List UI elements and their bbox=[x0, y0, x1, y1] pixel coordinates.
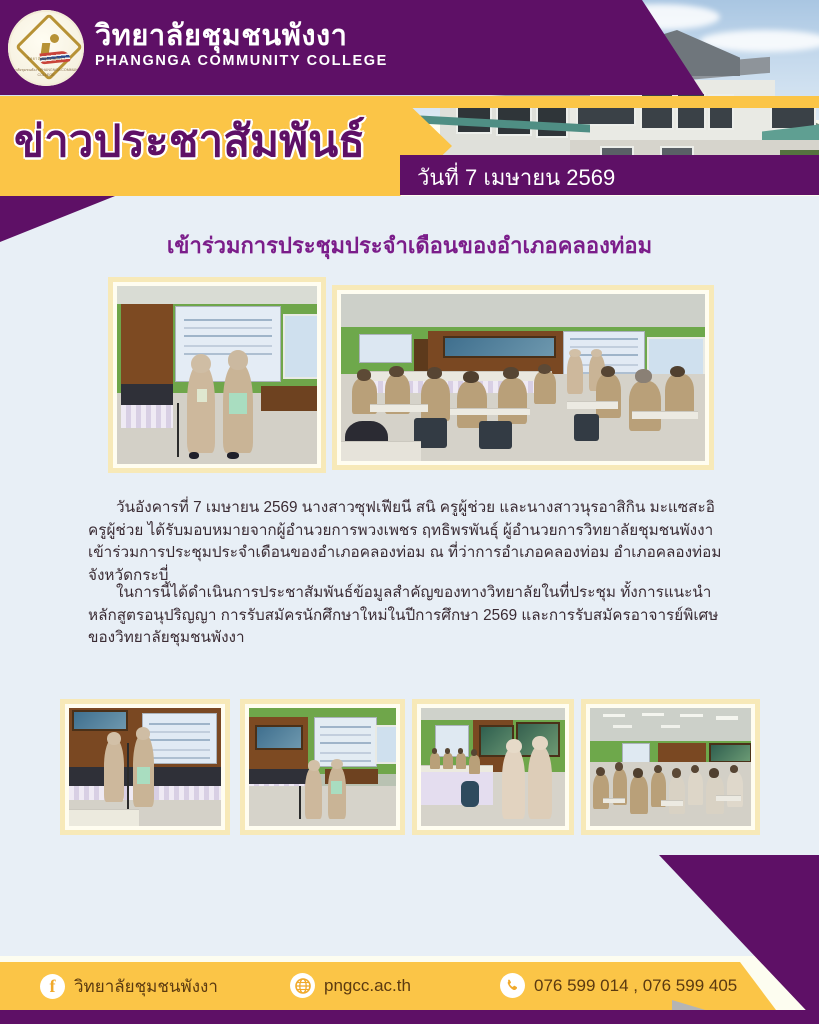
footer-phone-label: 076 599 014 , 076 599 405 bbox=[534, 976, 737, 996]
footer-facebook-label: วิทยาลัยชุมชนพังงา bbox=[74, 973, 218, 1000]
photo-image bbox=[69, 708, 221, 826]
news-poster: วิทยาลัยชุมชนพังงา วิทยาลัยชุมชนพังงา PH… bbox=[0, 0, 819, 1024]
phone-icon bbox=[500, 973, 525, 998]
banner-headline: ข่าวประชาสัมพันธ์ bbox=[14, 106, 365, 176]
banner-date: วันที่ 7 เมษายน 2569 bbox=[417, 160, 615, 195]
college-identity: วิทยาลัยชุมชนพังงา PHANGNGA COMMUNITY CO… bbox=[95, 20, 388, 69]
photo-thumb-full-hall bbox=[581, 699, 760, 835]
college-name-en: PHANGNGA COMMUNITY COLLEGE bbox=[95, 53, 388, 69]
footer-website[interactable]: pngcc.ac.th bbox=[290, 973, 411, 998]
article-paragraph-2: ในการนี้ได้ดำเนินการประชาสัมพันธ์ข้อมูลส… bbox=[88, 582, 734, 650]
page-title: เข้าร่วมการประชุมประจำเดือนของอำเภอคลองท… bbox=[0, 228, 819, 263]
footer-website-label: pngcc.ac.th bbox=[324, 976, 411, 996]
person-head-icon bbox=[50, 34, 59, 43]
photo-image bbox=[341, 294, 705, 461]
photo-image bbox=[117, 286, 317, 464]
photo-meeting-room-audience bbox=[332, 285, 714, 470]
college-name-th: วิทยาลัยชุมชนพังงา bbox=[95, 20, 388, 52]
photo-thumb-head-table bbox=[412, 699, 574, 835]
footer-facebook[interactable]: f วิทยาลัยชุมชนพังงา bbox=[40, 973, 218, 1000]
college-seal-logo: วิทยาลัยชุมชนพังงา วิทยาลัยชุมชนพังงา PH… bbox=[8, 10, 84, 86]
photo-image bbox=[249, 708, 396, 826]
logo-arc-text: วิทยาลัยชุมชนพังงา bbox=[8, 56, 84, 61]
facebook-icon: f bbox=[40, 974, 65, 999]
paragraph-text: วันอังคารที่ 7 เมษายน 2569 นางสาวซุฟเฟีย… bbox=[88, 499, 721, 584]
logo-bottom-text: วิทยาลัยชุมชนพังงา PHANGNGA COMMUNITY CO… bbox=[8, 68, 84, 78]
photo-image bbox=[421, 708, 565, 826]
footer-bottom-strip bbox=[0, 1010, 819, 1024]
globe-icon bbox=[290, 973, 315, 998]
paragraph-text: ในการนี้ได้ดำเนินการประชาสัมพันธ์ข้อมูลส… bbox=[88, 584, 718, 646]
photo-thumb-teachers-microphone bbox=[60, 699, 230, 835]
footer-phone[interactable]: 076 599 014 , 076 599 405 bbox=[500, 973, 737, 998]
photo-image bbox=[590, 708, 751, 826]
article-paragraph-1: วันอังคารที่ 7 เมษายน 2569 นางสาวซุฟเฟีย… bbox=[88, 497, 734, 588]
photo-thumb-teachers-stage bbox=[240, 699, 405, 835]
photo-two-teachers-presenting bbox=[108, 277, 326, 473]
